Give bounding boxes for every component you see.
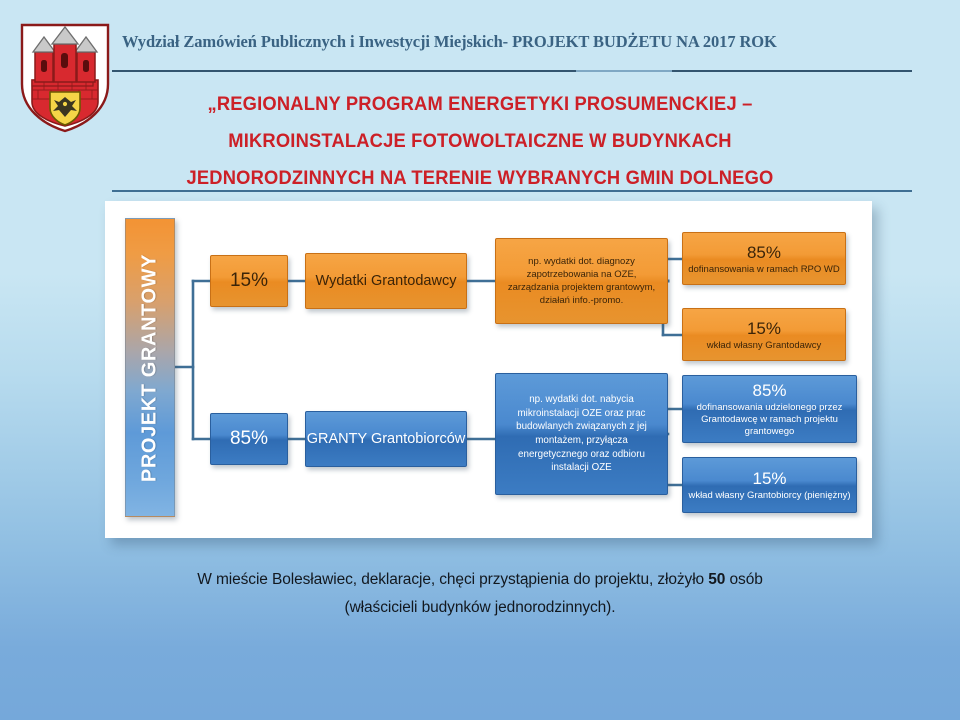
title-divider — [112, 190, 912, 192]
node-text-group: 85% dofinansowania udzielonego przez Gra… — [683, 380, 856, 438]
footer-line-1: W mieście Bolesławiec, deklaracje, chęci… — [70, 566, 890, 594]
node-blue-own-contribution-15[interactable]: 15% wkład własny Grantobiorcy (pieniężny… — [682, 457, 857, 513]
node-grantee-expense-details[interactable]: np. wydatki dot. nabycia mikroinstalacji… — [495, 373, 668, 495]
node-value: 15% — [230, 270, 268, 292]
spine-label: PROJEKT GRANTOWY — [139, 253, 162, 481]
node-label: GRANTY Grantobiorców — [307, 431, 465, 447]
node-subtitle: wkład własny Grantobiorcy (pieniężny) — [688, 490, 850, 502]
program-title: „REGIONALNY PROGRAM ENERGETYKI PROSUMENC… — [85, 86, 875, 197]
header-divider — [112, 70, 912, 72]
footer-count: 50 — [708, 571, 725, 588]
department-header-title: Wydział Zamówień Publicznych i Inwestycj… — [122, 32, 912, 52]
node-grantor-expense-details[interactable]: np. wydatki dot. diagnozy zapotrzebowani… — [495, 238, 668, 324]
footer-note: W mieście Bolesławiec, deklaracje, chęci… — [70, 566, 890, 622]
project-spine-bar: PROJEKT GRANTOWY — [125, 218, 175, 517]
grant-flow-diagram: PROJEKT GRANTOWY 15% Wydatki Grantodawcy… — [105, 201, 872, 538]
node-wydatki-grantodawcy[interactable]: Wydatki Grantodawcy — [305, 253, 467, 309]
node-label: Wydatki Grantodawcy — [316, 273, 457, 289]
node-text-group: 15% wkład własny Grantodawcy — [707, 318, 822, 352]
node-body-text: np. wydatki dot. nabycia mikroinstalacji… — [496, 393, 667, 475]
node-subtitle: dofinansowania udzielonego przez Grantod… — [683, 402, 856, 438]
grant-project-diagram-panel: PROJEKT GRANTOWY 15% Wydatki Grantodawcy… — [105, 201, 872, 538]
node-percent-85-grants[interactable]: 85% — [210, 413, 288, 465]
program-title-line-2: MIKROINSTALACJE FOTOWOLTAICZNE W BUDYNKA… — [85, 123, 875, 160]
program-title-line-1: „REGIONALNY PROGRAM ENERGETYKI PROSUMENC… — [85, 86, 875, 123]
node-orange-funding-85[interactable]: 85% dofinansowania w ramach RPO WD — [682, 232, 846, 285]
node-blue-funding-85[interactable]: 85% dofinansowania udzielonego przez Gra… — [682, 375, 857, 443]
node-granty-grantobiorcow[interactable]: GRANTY Grantobiorców — [305, 411, 467, 467]
footer-text-a: W mieście Bolesławiec, deklaracje, chęci… — [197, 571, 708, 588]
node-percent: 15% — [688, 468, 850, 490]
node-subtitle: wkład własny Grantodawcy — [707, 340, 822, 352]
node-percent-15-grantor[interactable]: 15% — [210, 255, 288, 307]
node-value: 85% — [230, 428, 268, 450]
footer-text-c: osób — [725, 571, 762, 588]
node-text-group: 85% dofinansowania w ramach RPO WD — [688, 242, 840, 276]
node-orange-own-contribution-15[interactable]: 15% wkład własny Grantodawcy — [682, 308, 846, 361]
node-percent: 15% — [707, 318, 822, 340]
node-percent: 85% — [688, 242, 840, 264]
slide-header: Wydział Zamówień Publicznych i Inwestycj… — [0, 0, 960, 90]
node-subtitle: dofinansowania w ramach RPO WD — [688, 264, 840, 276]
footer-line-2: (właścicieli budynków jednorodzinnych). — [70, 594, 890, 622]
node-text-group: 15% wkład własny Grantobiorcy (pieniężny… — [688, 468, 850, 502]
node-body-text: np. wydatki dot. diagnozy zapotrzebowani… — [496, 255, 667, 307]
node-percent: 85% — [683, 380, 856, 402]
